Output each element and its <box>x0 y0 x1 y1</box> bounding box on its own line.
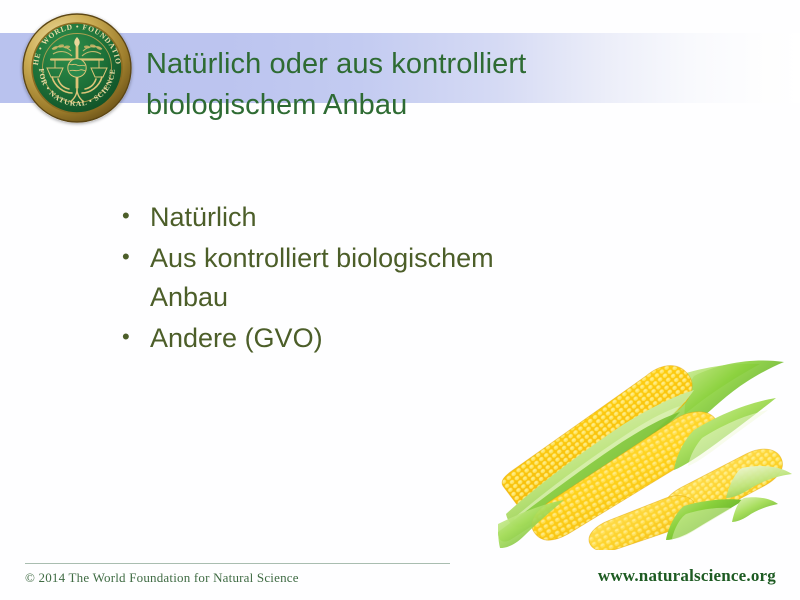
slide-title-line-1: Natürlich oder aus kontrolliert <box>146 44 746 85</box>
footer-website-url[interactable]: www.naturalscience.org <box>598 566 776 586</box>
footer-divider <box>25 563 450 564</box>
slide-title-line-2: biologischem Anbau <box>146 85 746 126</box>
slide-title: Natürlich oder aus kontrolliert biologis… <box>146 44 746 126</box>
footer-copyright: © 2014 The World Foundation for Natural … <box>25 570 299 586</box>
bullet-item-1: Natürlich <box>118 198 538 237</box>
bullet-item-3: Andere (GVO) <box>118 319 538 358</box>
presentation-slide: THE • WORLD • FOUNDATION FOR • NATURAL •… <box>0 0 800 600</box>
foundation-logo: THE • WORLD • FOUNDATION FOR • NATURAL •… <box>22 13 132 123</box>
bullet-list: Natürlich Aus kontrolliert biologischem … <box>118 198 538 360</box>
corn-cobs-image <box>498 318 800 550</box>
bullet-item-2: Aus kontrolliert biologischem Anbau <box>118 239 538 317</box>
